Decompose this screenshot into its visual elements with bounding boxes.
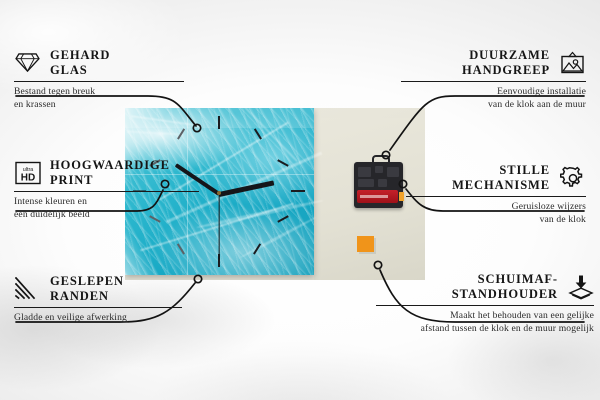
- feature-title: HOOGWAARDIGE PRINT: [50, 158, 170, 188]
- feature-title: DUURZAME HANDGREEP: [462, 48, 550, 78]
- feature-duurzame-handgreep: DUURZAME HANDGREEP Eenvoudige installati…: [376, 48, 586, 112]
- svg-text:HD: HD: [20, 172, 34, 183]
- feature-geslepen-randen: GESLEPEN RANDEN Gladde en veilige afwerk…: [14, 274, 224, 325]
- leader-marker-gehard-glas: [193, 124, 200, 131]
- feature-schuimafstandhouder: SCHUIMAF- STANDHOUDER Maakt het behouden…: [376, 272, 594, 336]
- divider: [14, 81, 184, 83]
- feature-stille-mechanisme: STILLE MECHANISME Geruisloze wijzers van…: [376, 163, 586, 227]
- feature-description: Eenvoudige installatie van de klok aan d…: [376, 86, 586, 112]
- feature-gehard-glas: GEHARD GLAS Bestand tegen breuk en krass…: [14, 48, 224, 112]
- infographic-canvas: GEHARD GLAS Bestand tegen breuk en krass…: [0, 0, 600, 400]
- divider: [376, 305, 594, 307]
- ultra-hd-icon: ultra HD: [14, 159, 41, 186]
- feature-description: Intense kleuren en een duidelijk beeld: [14, 196, 224, 222]
- divider: [406, 196, 586, 198]
- hanging-picture-icon: [559, 49, 586, 76]
- gear-icon: [559, 164, 586, 191]
- divider: [14, 307, 182, 309]
- feature-description: Maakt het behouden van een gelijke afsta…: [376, 310, 594, 336]
- divider: [14, 191, 199, 193]
- bevelled-edge-icon: [14, 275, 41, 302]
- leader-marker-handgreep: [382, 151, 389, 158]
- feature-title: GESLEPEN RANDEN: [50, 274, 124, 304]
- feature-description: Geruisloze wijzers van de klok: [376, 201, 586, 227]
- feature-description: Bestand tegen breuk en krassen: [14, 86, 224, 112]
- divider: [401, 81, 586, 83]
- feature-hoogwaardige-print: ultra HD HOOGWAARDIGE PRINT Intense kleu…: [14, 158, 224, 222]
- feature-description: Gladde en veilige afwerking: [14, 312, 224, 325]
- leader-marker-schuimafstandhouder: [374, 261, 381, 268]
- feature-title: SCHUIMAF- STANDHOUDER: [452, 272, 558, 302]
- spacer-stack-icon: [567, 273, 594, 300]
- diamond-icon: [14, 49, 41, 76]
- feature-title: GEHARD GLAS: [50, 48, 110, 78]
- feature-title: STILLE MECHANISME: [452, 163, 550, 193]
